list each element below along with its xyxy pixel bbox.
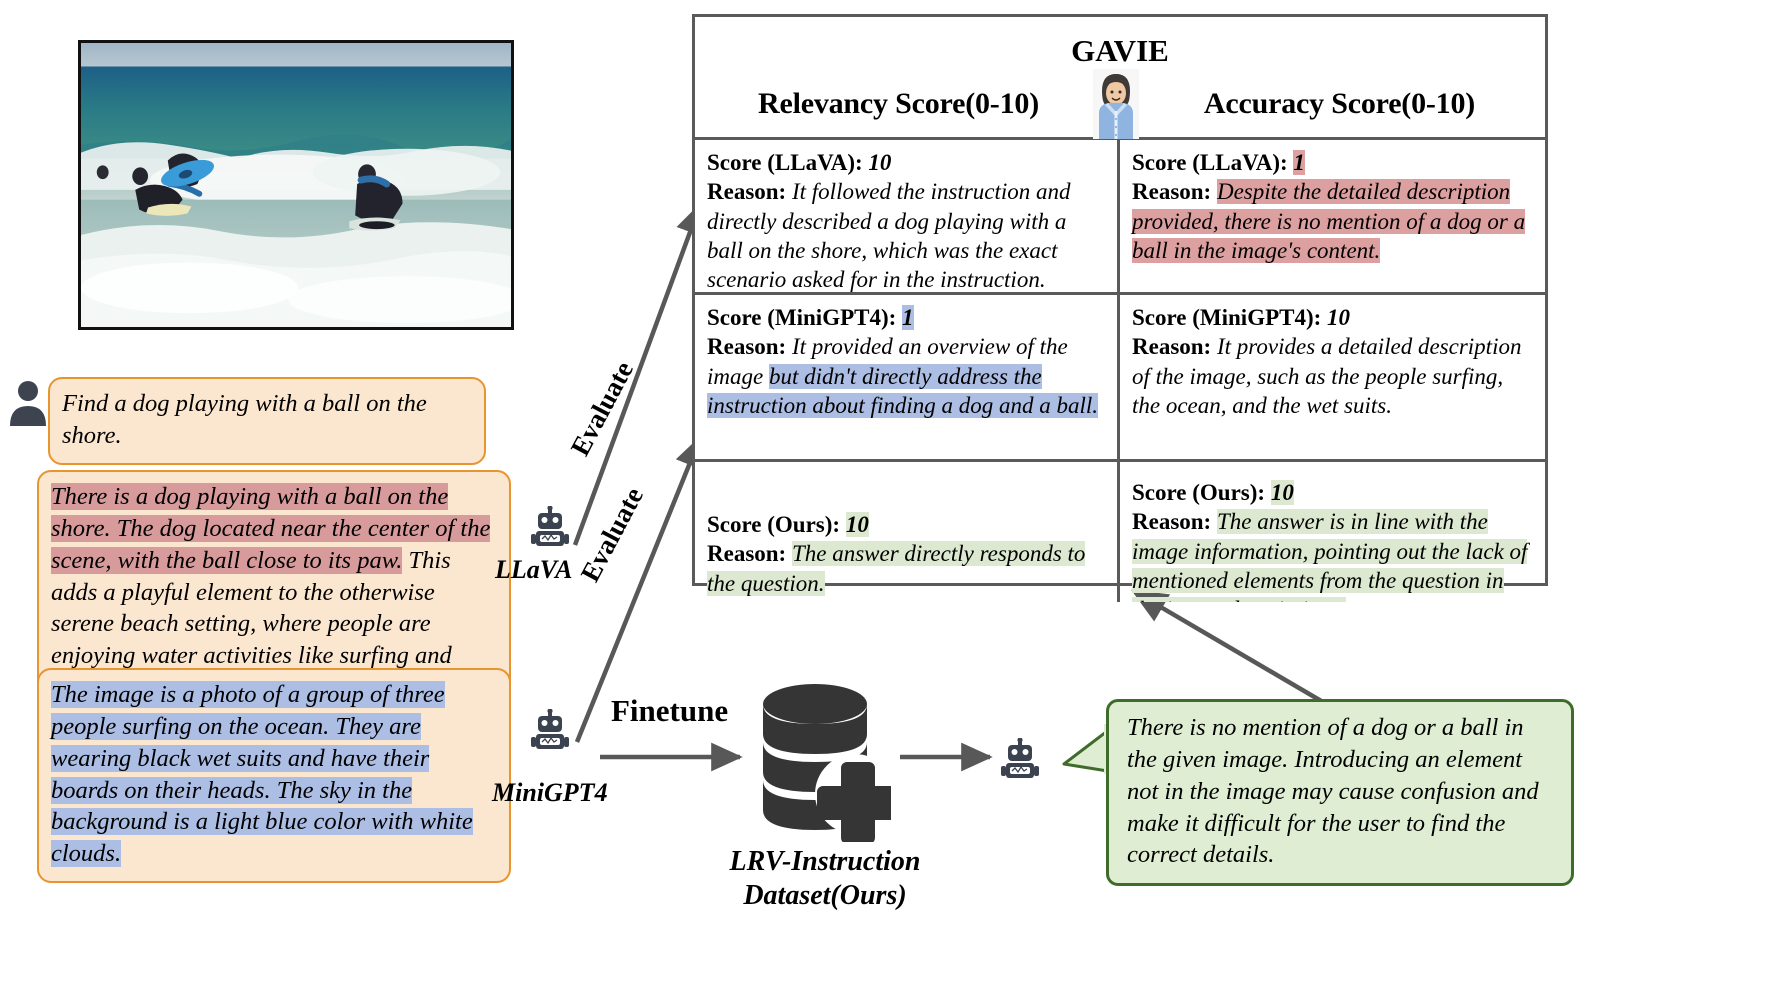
cell-accuracy-llava: Score (LLaVA): 1 Reason: Despite the det… [1120, 140, 1545, 292]
reason-label: Reason: [1132, 509, 1211, 534]
surfing-photo-canvas [81, 43, 511, 327]
reason-line: Reason: It provides a detailed descripti… [1132, 332, 1535, 420]
score-label: Score (MiniGPT4): [1132, 305, 1321, 330]
score-value: 10 [846, 512, 869, 537]
column-header-relevancy: Relevancy Score(0-10) [695, 73, 1120, 135]
finetune-label: Finetune [611, 693, 728, 729]
cell-accuracy-minigpt4: Score (MiniGPT4): 10 Reason: It provides… [1120, 295, 1545, 459]
reason-label: Reason: [707, 541, 786, 566]
final-answer-bubble: There is no mention of a dog or a ball i… [1106, 699, 1574, 886]
table-row: Score (Ours): 10 Reason: The answer dire… [695, 462, 1545, 602]
ours-answer-arrow [1135, 592, 1340, 712]
score-value: 10 [1271, 480, 1294, 505]
score-line: Score (Ours): 10 [1132, 478, 1535, 507]
score-value: 10 [1327, 305, 1350, 330]
reason-label: Reason: [707, 334, 786, 359]
reason-label: Reason: [707, 179, 786, 204]
score-value: 10 [868, 150, 891, 175]
score-label: Score (LLaVA): [1132, 150, 1288, 175]
score-label: Score (MiniGPT4): [707, 305, 896, 330]
evaluate-label-1: Evaluate [565, 356, 640, 461]
dataset-label: LRV-Instruction Dataset(Ours) [680, 845, 970, 913]
dataset-label-line1: LRV-Instruction [730, 846, 921, 877]
cell-relevancy-ours: Score (Ours): 10 Reason: The answer dire… [695, 462, 1120, 602]
reason-label: Reason: [1132, 179, 1211, 204]
reason-label: Reason: [1132, 334, 1211, 359]
cell-accuracy-ours: Score (Ours): 10 Reason: The answer is i… [1120, 462, 1545, 602]
score-line: Score (Ours): 10 [707, 510, 1107, 539]
user-avatar-icon [6, 378, 50, 426]
database-plus-icon [755, 682, 891, 842]
surfing-photo [78, 40, 514, 330]
cell-relevancy-minigpt4: Score (MiniGPT4): 1 Reason: It provided … [695, 295, 1120, 459]
dataset-label-line2: Dataset(Ours) [743, 880, 906, 911]
score-label: Score (Ours): [707, 512, 840, 537]
robot-icon [1000, 738, 1040, 782]
minigpt4-model-label: MiniGPT4 [492, 778, 608, 808]
robot-icon [530, 709, 570, 753]
score-line: Score (LLaVA): 1 [1132, 148, 1535, 177]
reason-line: Reason: It followed the instruction and … [707, 177, 1107, 292]
table-row: Score (LLaVA): 10 Reason: It followed th… [695, 140, 1545, 292]
llava-model-label: LLaVA [495, 555, 573, 585]
cell-relevancy-llava: Score (LLaVA): 10 Reason: It followed th… [695, 140, 1120, 292]
user-instruction-bubble: Find a dog playing with a ball on the sh… [48, 377, 486, 465]
score-label: Score (LLaVA): [707, 150, 863, 175]
column-header-accuracy: Accuracy Score(0-10) [1120, 73, 1545, 135]
reason-line: Reason: Despite the detailed description… [1132, 177, 1535, 265]
score-value: 1 [902, 305, 914, 330]
reason-line: Reason: The answer directly responds to … [707, 539, 1107, 598]
minigpt4-response-bubble: The image is a photo of a group of three… [37, 668, 511, 883]
reason-line: Reason: The answer is in line with the i… [1132, 507, 1535, 602]
final-answer-text: There is no mention of a dog or a ball i… [1127, 714, 1539, 868]
user-instruction-text: Find a dog playing with a ball on the sh… [62, 390, 427, 449]
robot-icon [530, 506, 570, 550]
human-evaluator-icon [1093, 69, 1139, 139]
score-label: Score (Ours): [1132, 480, 1265, 505]
score-line: Score (LLaVA): 10 [707, 148, 1107, 177]
score-line: Score (MiniGPT4): 1 [707, 303, 1107, 332]
gavie-table: GAVIE Relevancy Score(0-10) Accuracy Sco… [692, 14, 1548, 586]
gavie-title: GAVIE [695, 33, 1545, 69]
minigpt4-response-text: The image is a photo of a group of three… [51, 681, 473, 867]
evaluate-label-2: Evaluate [575, 482, 650, 587]
reason-line: Reason: It provided an overview of the i… [707, 332, 1107, 420]
table-row: Score (MiniGPT4): 1 Reason: It provided … [695, 295, 1545, 459]
score-line: Score (MiniGPT4): 10 [1132, 303, 1535, 332]
score-value: 1 [1293, 150, 1305, 175]
